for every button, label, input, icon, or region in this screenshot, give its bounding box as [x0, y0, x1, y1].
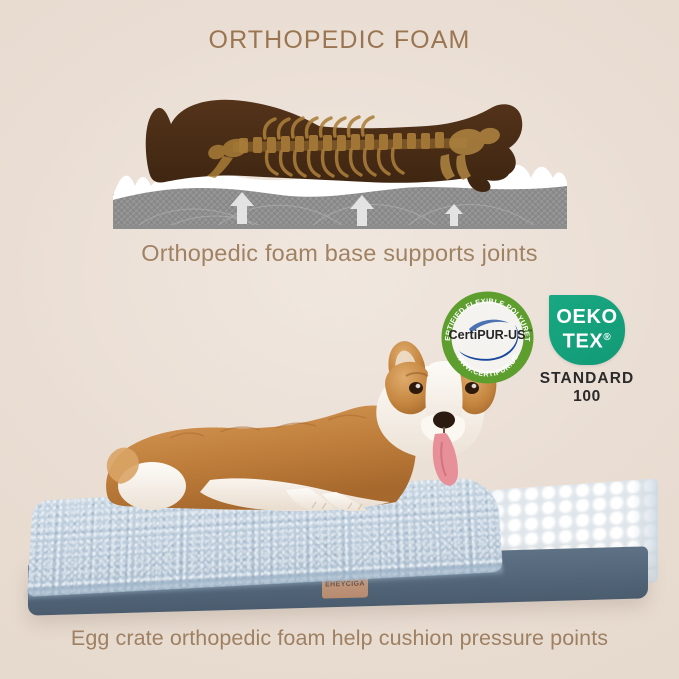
standard-number: 100: [531, 388, 643, 406]
orthopedic-foam-cross-section: [105, 86, 575, 238]
certipur-title: CertiPUR-US: [449, 328, 526, 342]
infographic-page: ORTHOPEDIC FOAM: [0, 0, 679, 679]
oeko-tex-standard-label: STANDARD 100: [531, 370, 643, 406]
oeko-tex-line-1: OEKO: [556, 307, 617, 327]
certipur-trademark: ™: [527, 329, 533, 335]
dog-body: [106, 406, 416, 512]
caption-orthopedic-support: Orthopedic foam base supports joints: [0, 240, 679, 267]
certipur-us-badge: CONTAINS CERTIFIED FLEXIBLE POLYURETHANE…: [439, 289, 536, 386]
oeko-tex-line-2: TEX®: [563, 327, 612, 353]
dog-eye-left: [409, 382, 423, 394]
standard-word: STANDARD: [531, 370, 643, 388]
oeko-tex-badge: OEKO TEX®: [549, 295, 625, 365]
registered-mark: ®: [603, 332, 611, 343]
caption-egg-crate: Egg crate orthopedic foam help cushion p…: [0, 626, 679, 651]
page-title: ORTHOPEDIC FOAM: [0, 26, 679, 55]
dog-nose: [433, 412, 455, 429]
